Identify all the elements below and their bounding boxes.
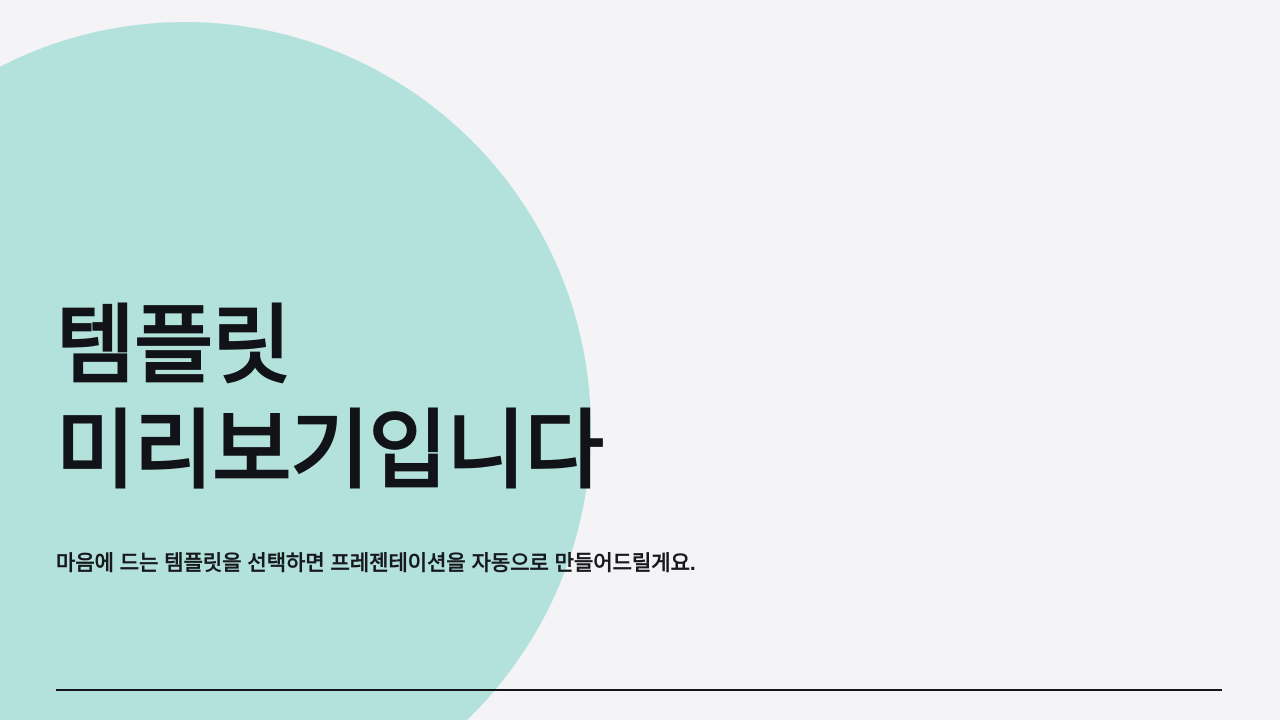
template-preview-slide: 템플릿 미리보기입니다 마음에 드는 템플릿을 선택하면 프레젠테이션을 자동으… <box>0 0 1280 720</box>
page-subtitle: 마음에 드는 템플릿을 선택하면 프레젠테이션을 자동으로 만들어드릴게요. <box>56 549 696 579</box>
bottom-divider-rule <box>56 689 1222 691</box>
page-title-line-2: 미리보기입니다 <box>56 399 603 504</box>
page-title: 템플릿 미리보기입니다 <box>56 294 603 504</box>
slide-content: 템플릿 미리보기입니다 마음에 드는 템플릿을 선택하면 프레젠테이션을 자동으… <box>0 0 1280 720</box>
page-title-line-1: 템플릿 <box>56 294 603 399</box>
